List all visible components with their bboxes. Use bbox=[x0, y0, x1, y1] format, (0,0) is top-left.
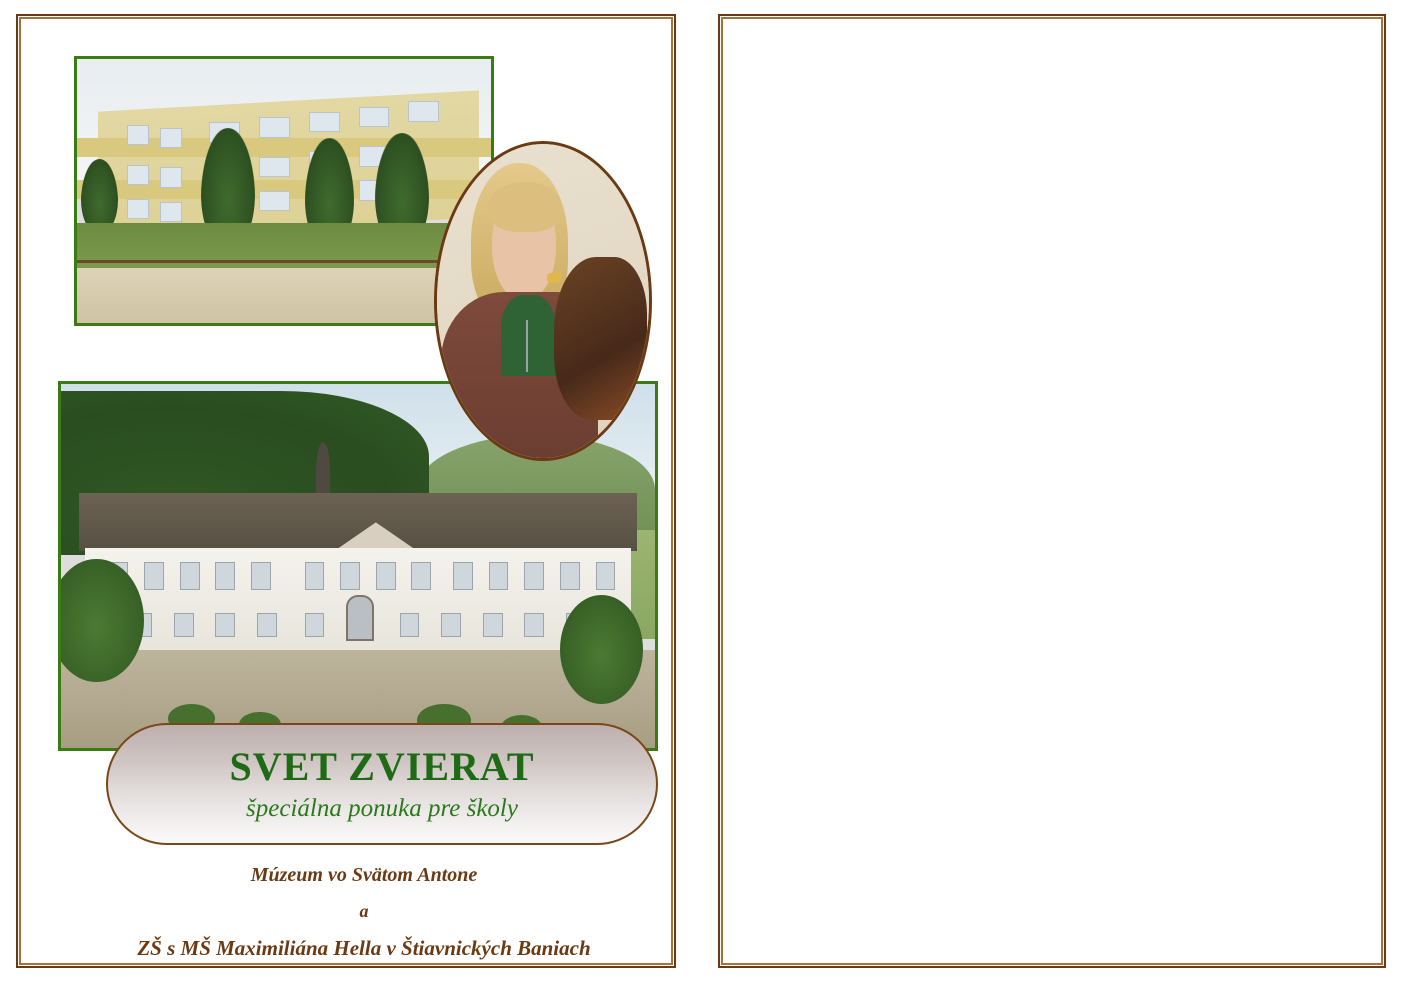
girl-with-hawk-photo bbox=[434, 141, 652, 461]
school-building-image bbox=[77, 59, 491, 323]
page-title: SVET ZVIERAT bbox=[229, 745, 534, 789]
organizer-museum: Múzeum vo Svätom Antone bbox=[46, 864, 682, 887]
organizer-conjunction: a bbox=[46, 901, 682, 922]
page-subtitle: špeciálna ponuka pre školy bbox=[246, 795, 518, 823]
organizer-school: ZŠ s MŠ Maximiliána Hella v Štiavnických… bbox=[46, 936, 682, 961]
brochure-page: SVET ZVIERAT špeciálna ponuka pre školy … bbox=[0, 0, 1404, 992]
title-banner: SVET ZVIERAT špeciálna ponuka pre školy bbox=[106, 723, 658, 845]
left-panel: SVET ZVIERAT špeciálna ponuka pre školy … bbox=[16, 14, 676, 968]
school-building-photo bbox=[74, 56, 494, 326]
organizers-block: Múzeum vo Svätom Antone a ZŠ s MŠ Maximi… bbox=[46, 864, 682, 961]
right-panel: Využite príležitosť pozrieť si krásny ka… bbox=[718, 14, 1386, 968]
